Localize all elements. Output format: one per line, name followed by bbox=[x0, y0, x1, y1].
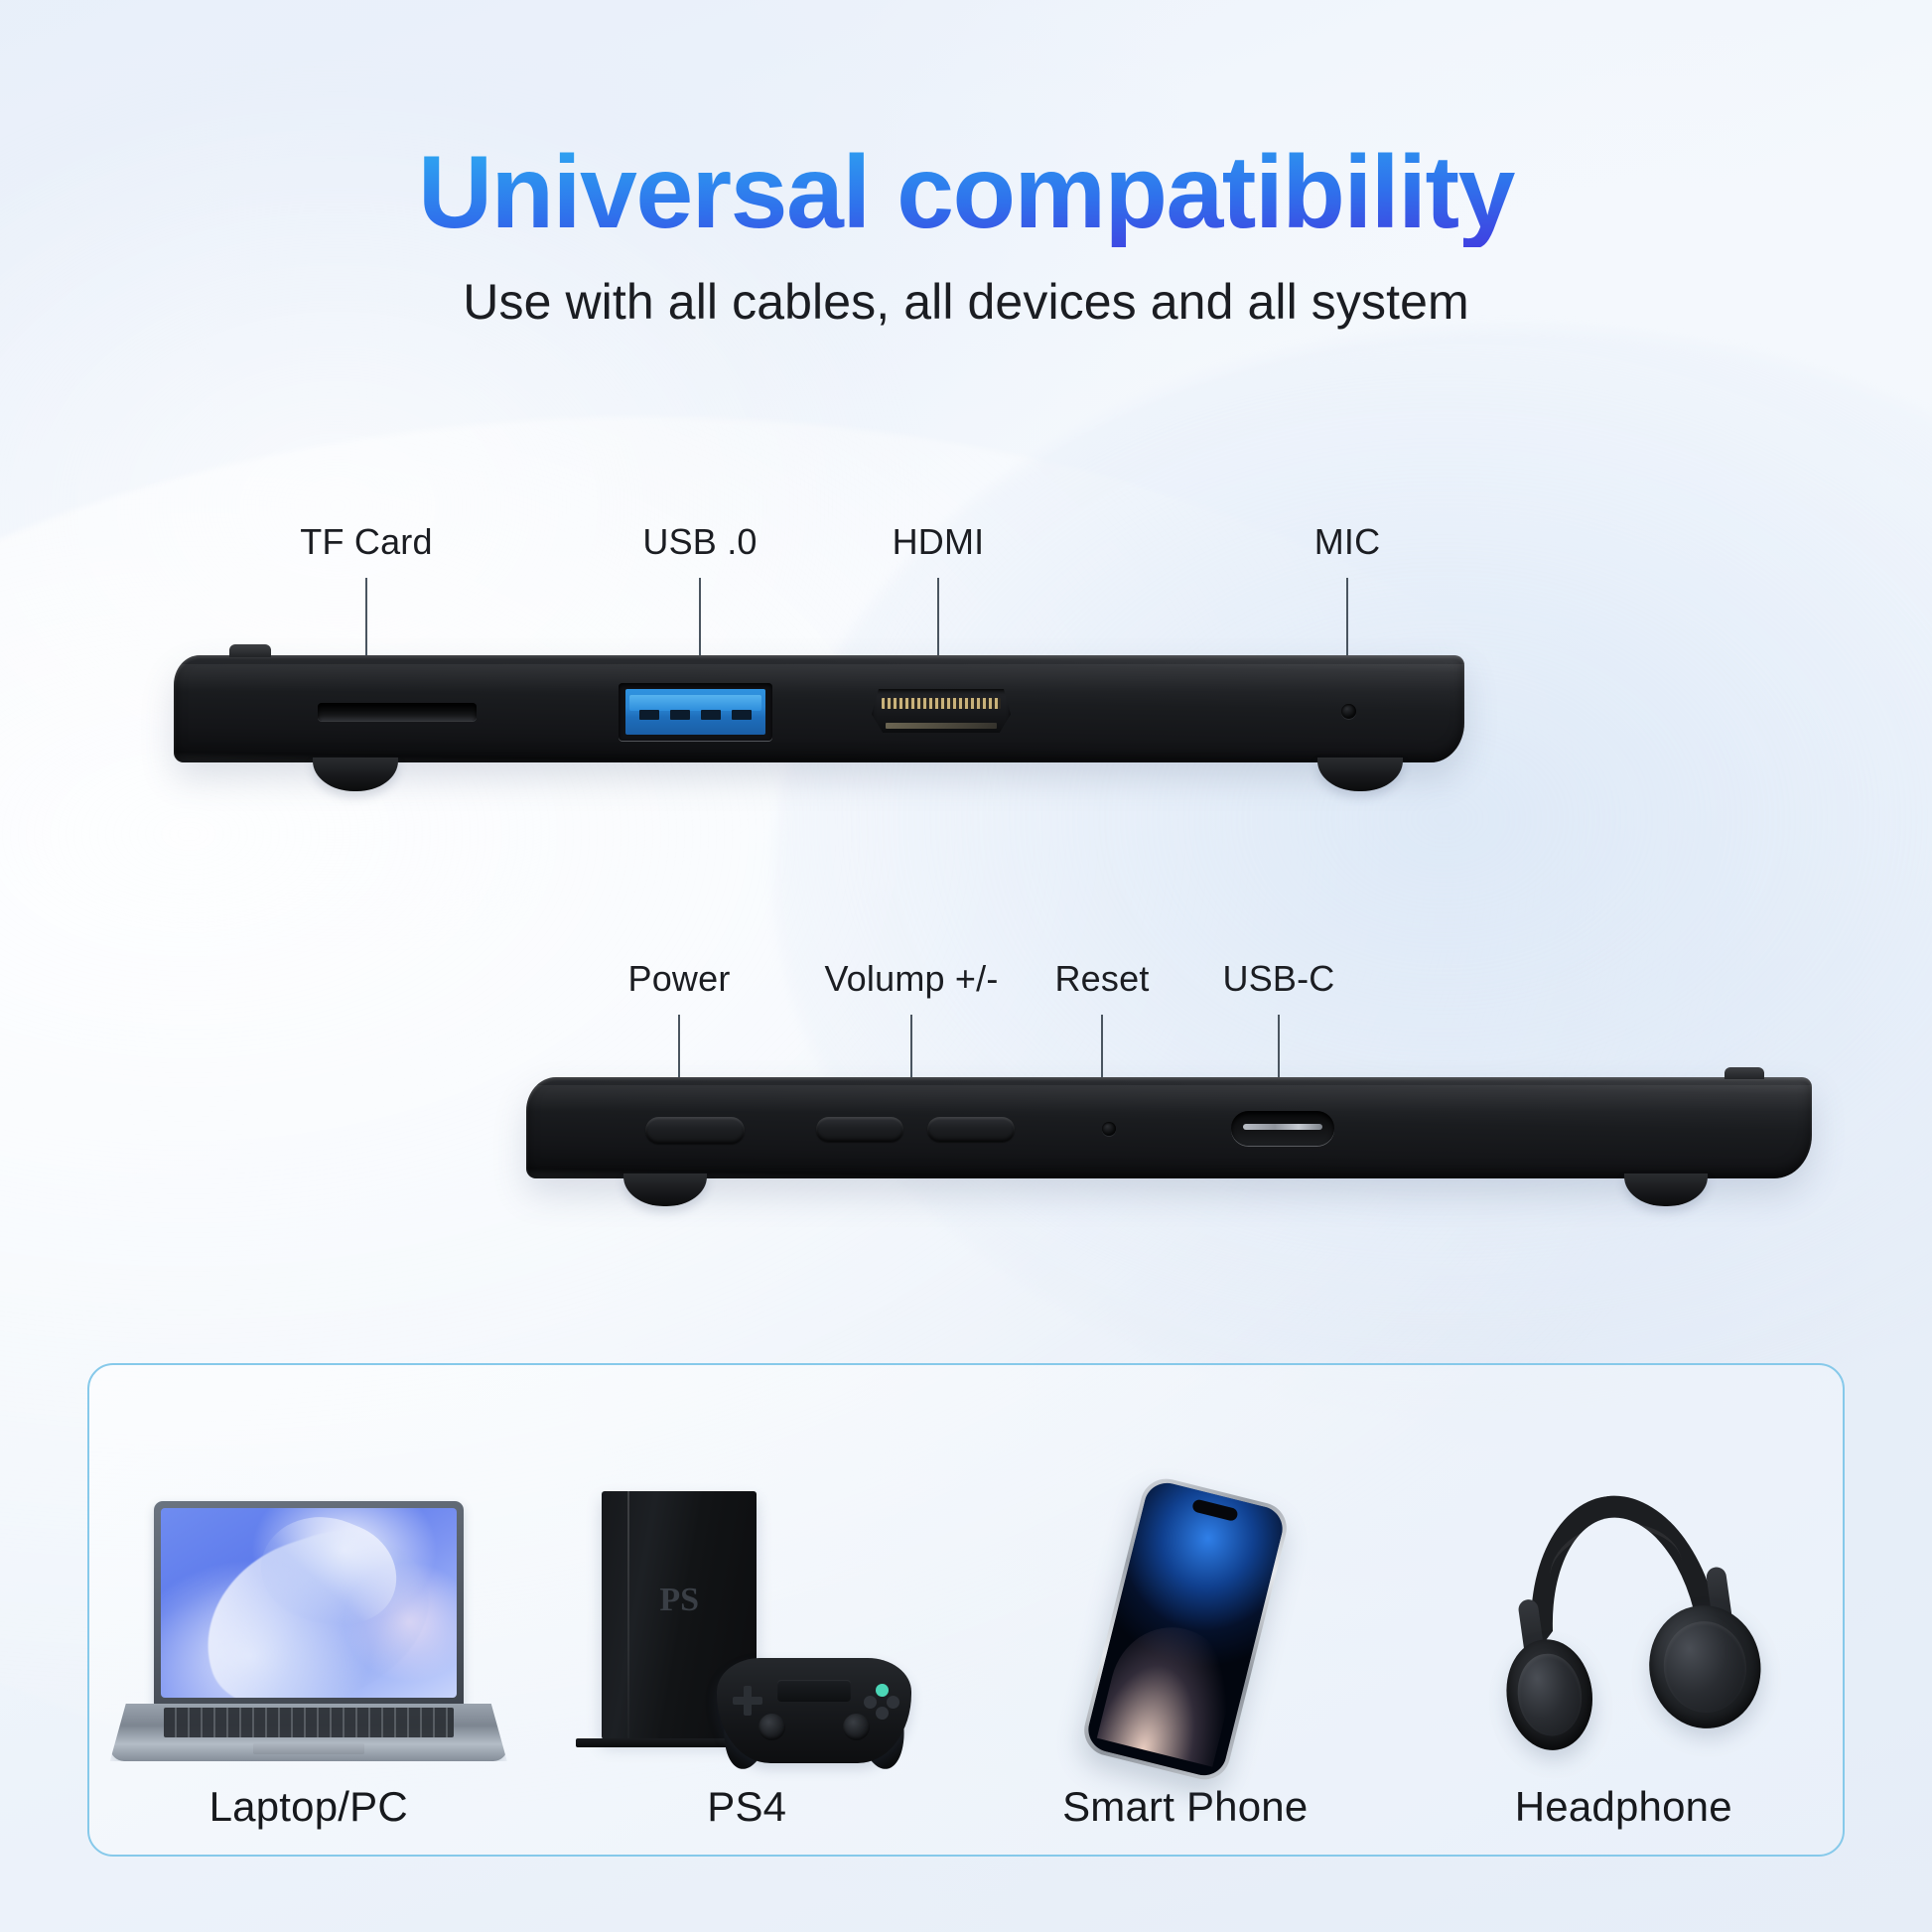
callout-label-hdmi: HDMI bbox=[893, 521, 985, 563]
usb-a-port-icon[interactable] bbox=[619, 683, 772, 741]
compat-item-smartphone[interactable]: Smart Phone bbox=[966, 1365, 1405, 1855]
callout-label-usb-a: USB .0 bbox=[642, 521, 757, 563]
ps4-touchpad bbox=[777, 1680, 851, 1702]
callout-label-power: Power bbox=[627, 958, 730, 1000]
volume-up-button-icon[interactable] bbox=[816, 1117, 903, 1142]
hdmi-contacts bbox=[882, 698, 1001, 709]
callout-label-usb-c: USB-C bbox=[1222, 958, 1334, 1000]
phone-dynamic-island bbox=[1191, 1498, 1239, 1522]
header: Universal compatibility Use with all cab… bbox=[0, 139, 1932, 331]
page-title: Universal compatibility bbox=[0, 139, 1932, 247]
compatibility-panel: Laptop/PC PS bbox=[87, 1363, 1845, 1857]
smartphone-icon bbox=[966, 1477, 1405, 1775]
laptop-icon bbox=[89, 1477, 528, 1775]
laptop-trackpad bbox=[253, 1743, 364, 1754]
compat-label-ps4: PS4 bbox=[707, 1783, 786, 1831]
device-bottom-control-side bbox=[526, 1077, 1812, 1178]
game-console-icon: PS bbox=[528, 1477, 967, 1775]
compat-label-laptop: Laptop/PC bbox=[209, 1783, 408, 1831]
usb-a-tongue bbox=[629, 695, 761, 711]
leader-line-tf-card bbox=[365, 578, 367, 667]
callout-label-volume: Volump +/- bbox=[824, 958, 998, 1000]
power-button-icon[interactable] bbox=[645, 1117, 745, 1144]
phone-wallpaper-glow bbox=[1097, 1615, 1243, 1767]
ps4-face-buttons-icon bbox=[864, 1684, 899, 1720]
callout-label-mic: MIC bbox=[1314, 521, 1381, 563]
usb-a-pins bbox=[639, 710, 752, 720]
phone-frame bbox=[1078, 1473, 1292, 1785]
page-subtitle: Use with all cables, all devices and all… bbox=[0, 273, 1932, 331]
headphone-earcup-disc-right bbox=[1658, 1616, 1752, 1718]
laptop-lid bbox=[154, 1501, 464, 1708]
headphone-earcup-disc-left bbox=[1513, 1650, 1587, 1740]
ps4-stick-left bbox=[759, 1714, 785, 1740]
device-top-port-side bbox=[174, 655, 1464, 762]
compatibility-device-list: Laptop/PC PS bbox=[89, 1365, 1843, 1855]
compat-item-headphone[interactable]: Headphone bbox=[1405, 1365, 1844, 1855]
reset-pinhole-icon bbox=[1102, 1122, 1116, 1136]
headphone-icon bbox=[1405, 1477, 1844, 1775]
laptop-base bbox=[110, 1704, 507, 1761]
leader-line-hdmi bbox=[937, 578, 939, 667]
callout-label-reset: Reset bbox=[1054, 958, 1149, 1000]
usb-a-port-insert bbox=[625, 689, 765, 735]
ps4-logo-icon: PS bbox=[659, 1582, 699, 1619]
ps4-controller-body bbox=[717, 1658, 911, 1763]
ps4-stick-right bbox=[843, 1714, 870, 1740]
device-side-nub-bottom bbox=[1725, 1067, 1764, 1079]
headphone-earcup-left bbox=[1500, 1634, 1600, 1756]
tf-card-slot-icon[interactable] bbox=[318, 703, 477, 721]
hdmi-port-icon[interactable] bbox=[872, 689, 1011, 733]
leader-line-mic bbox=[1346, 578, 1348, 667]
callout-label-tf-card: TF Card bbox=[300, 521, 432, 563]
compat-label-headphone: Headphone bbox=[1515, 1783, 1732, 1831]
usb-c-port-icon[interactable] bbox=[1231, 1111, 1334, 1146]
ps4-dpad-icon bbox=[733, 1686, 762, 1716]
usb-c-tongue bbox=[1243, 1124, 1321, 1130]
laptop-keyboard bbox=[164, 1708, 454, 1737]
microphone-pinhole-icon bbox=[1341, 704, 1356, 719]
hdmi-lower-lip bbox=[886, 723, 997, 728]
compat-item-ps4[interactable]: PS bbox=[528, 1365, 967, 1855]
phone-screen bbox=[1083, 1478, 1287, 1780]
compat-item-laptop[interactable]: Laptop/PC bbox=[89, 1365, 528, 1855]
ps4-controller bbox=[717, 1640, 911, 1763]
leader-line-usb-a bbox=[699, 578, 701, 667]
compat-label-smartphone: Smart Phone bbox=[1062, 1783, 1308, 1831]
ps4-console-edge bbox=[627, 1491, 629, 1739]
laptop-screen bbox=[161, 1508, 457, 1698]
device-side-nub bbox=[229, 644, 271, 657]
volume-down-button-icon[interactable] bbox=[927, 1117, 1015, 1142]
